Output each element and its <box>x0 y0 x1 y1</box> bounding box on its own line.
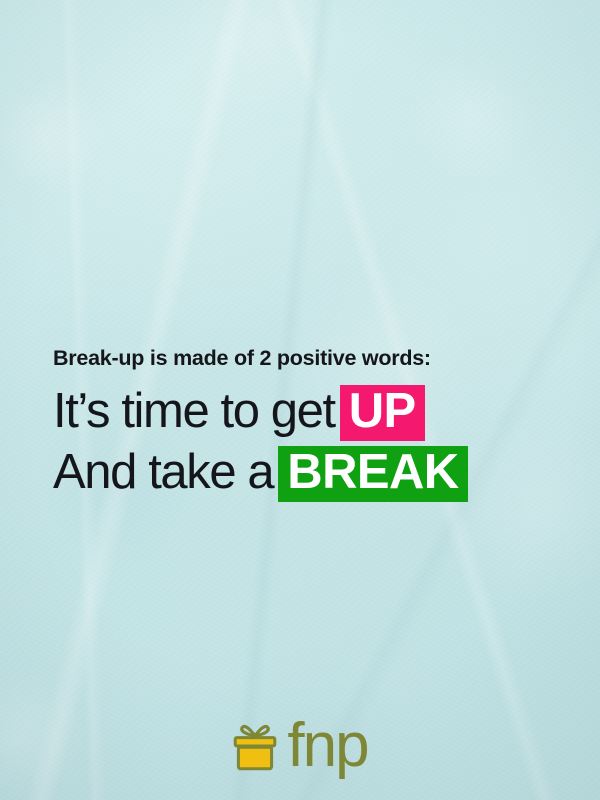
gift-box-icon <box>232 722 278 772</box>
highlight-badge-break: BREAK <box>278 446 467 502</box>
quote-eyebrow-line: Break-up is made of 2 positive words: <box>53 346 563 370</box>
quote-copy-block: Break-up is made of 2 positive words: It… <box>53 346 563 503</box>
quote-line-two: And take aBREAK <box>53 443 563 502</box>
quote-line-two-text: And take a <box>53 445 273 499</box>
quote-line-one: It’s time to getUP <box>53 382 563 441</box>
quote-line-one-text: It’s time to get <box>53 384 335 438</box>
highlight-badge-up: UP <box>340 385 425 441</box>
poster-canvas: Break-up is made of 2 positive words: It… <box>0 0 600 800</box>
fnp-wordmark: fnp <box>287 722 367 770</box>
fnp-logo: fnp <box>0 722 600 772</box>
